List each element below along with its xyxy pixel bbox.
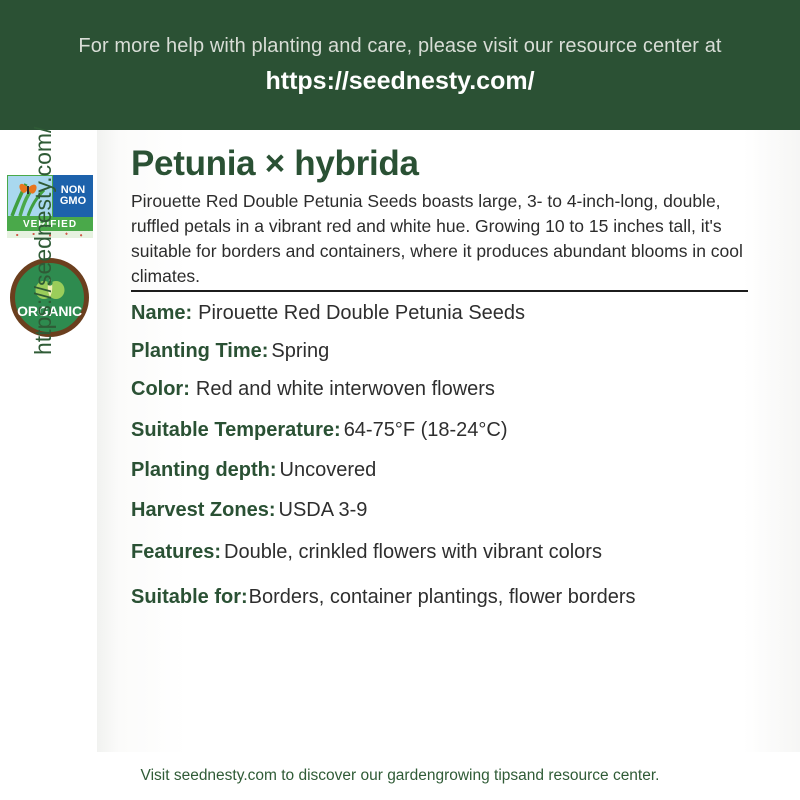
section-divider	[131, 290, 748, 292]
header-url[interactable]: https://seednesty.com/	[265, 67, 534, 96]
attribute-value: Pirouette Red Double Petunia Seeds	[198, 302, 525, 325]
attribute-value: Double, crinkled flowers with vibrant co…	[224, 541, 602, 564]
attribute-row-features: Features: Double, crinkled flowers with …	[131, 541, 791, 564]
attribute-row-planting-time: Planting Time: Spring	[131, 340, 791, 363]
page-title: Petunia × hybrida	[131, 144, 419, 184]
attribute-list: Name: Pirouette Red Double Petunia Seeds…	[131, 302, 791, 609]
non-gmo-line2: GMO	[60, 196, 86, 207]
header-banner: For more help with planting and care, pl…	[0, 0, 800, 130]
attribute-label: Harvest Zones:	[131, 499, 276, 522]
product-info-card: Petunia × hybrida Pirouette Red Double P…	[97, 130, 800, 752]
header-help-text: For more help with planting and care, pl…	[58, 34, 741, 58]
attribute-row-suitable-for: Suitable for: Borders, container plantin…	[131, 586, 791, 609]
attribute-label: Planting depth:	[131, 459, 277, 482]
attribute-label: Features:	[131, 541, 221, 564]
seed-packet-label: For more help with planting and care, pl…	[0, 0, 800, 800]
footer-text: Visit seednesty.com to discover our gard…	[141, 767, 660, 785]
attribute-value: Red and white interwoven flowers	[196, 378, 495, 401]
attribute-label: Name:	[131, 302, 192, 325]
attribute-value: Borders, container plantings, flower bor…	[249, 586, 636, 609]
footer: Visit seednesty.com to discover our gard…	[0, 752, 800, 800]
sidebar: NON GMO VERIFIED ORGANIC https://seednes…	[0, 130, 97, 800]
attribute-row-harvest-zones: Harvest Zones: USDA 3-9	[131, 499, 791, 522]
attribute-value: Uncovered	[280, 459, 377, 482]
attribute-value: USDA 3-9	[279, 499, 368, 522]
attribute-row-temperature: Suitable Temperature: 64-75°F (18-24°C)	[131, 419, 791, 442]
non-gmo-text-panel: NON GMO	[53, 175, 93, 217]
attribute-value: Spring	[271, 340, 329, 363]
attribute-row-color: Color: Red and white interwoven flowers	[131, 378, 791, 401]
attribute-label: Suitable Temperature:	[131, 419, 341, 442]
attribute-label: Color:	[131, 378, 190, 401]
product-description: Pirouette Red Double Petunia Seeds boast…	[131, 189, 749, 289]
attribute-value: 64-75°F (18-24°C)	[344, 419, 508, 442]
attribute-label: Suitable for:	[131, 586, 248, 609]
attribute-label: Planting Time:	[131, 340, 268, 363]
attribute-row-name: Name: Pirouette Red Double Petunia Seeds	[131, 302, 791, 325]
sidebar-vertical-url[interactable]: https://seednesty.com/	[30, 55, 57, 355]
attribute-row-planting-depth: Planting depth: Uncovered	[131, 459, 791, 482]
